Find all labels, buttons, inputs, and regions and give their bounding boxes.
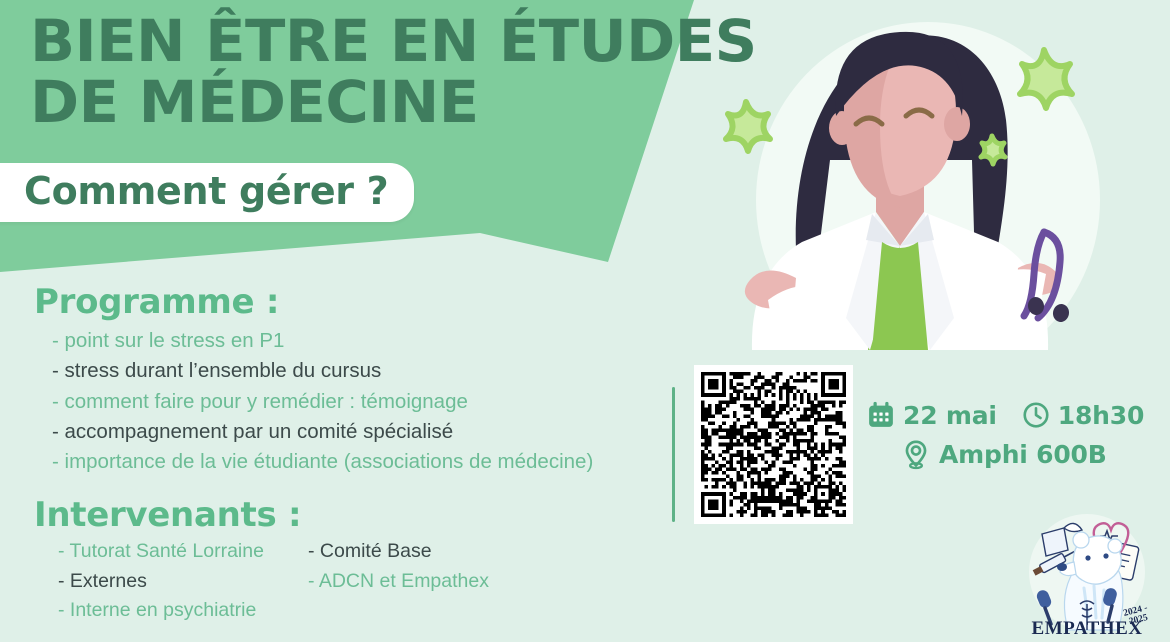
event-date-time-row: 22 mai 18h30	[866, 400, 1156, 430]
intervenant-item: - Tutorat Santé Lorraine	[58, 537, 308, 567]
event-time-text: 18h30	[1058, 401, 1144, 430]
vertical-divider	[672, 387, 675, 522]
programme-item: - point sur le stress en P1	[52, 326, 674, 356]
programme-item: - importance de la vie étudiante (associ…	[52, 447, 674, 477]
title-line-1: BIEN ÊTRE EN ÉTUDES	[30, 14, 724, 69]
logo-name: EMPATHEX	[1032, 618, 1143, 639]
event-date-text: 22 mai	[903, 401, 997, 430]
intervenant-item: - Comité Base	[308, 537, 489, 567]
female-doctor-illustration	[700, 0, 1170, 350]
intervenant-item: - Externes	[58, 567, 308, 597]
event-details: 22 mai 18h30 Amphi 600B	[866, 400, 1156, 470]
intervenants-columns: - Tutorat Santé Lorraine- Externes- Inte…	[34, 537, 654, 626]
intervenants-heading: Intervenants :	[34, 495, 654, 535]
programme-section: Programme : - point sur le stress en P1-…	[34, 282, 674, 478]
subtitle-text: Comment gérer ?	[24, 169, 388, 213]
programme-heading: Programme :	[34, 282, 674, 322]
programme-item: - stress durant l’ensemble du cursus	[52, 356, 674, 386]
title-line-2: DE MÉDECINE	[30, 75, 724, 130]
programme-item: - comment faire pour y remédier : témoig…	[52, 387, 674, 417]
event-location-row: Amphi 600B	[900, 438, 1156, 470]
programme-item: - accompagnement par un comité spécialis…	[52, 417, 674, 447]
polar-bear-logo: EMPATHEX 2024 - 2025	[1012, 512, 1162, 640]
programme-list: - point sur le stress en P1- stress dura…	[34, 326, 674, 478]
intervenant-item: - ADCN et Empathex	[308, 567, 489, 597]
page-title: BIEN ÊTRE EN ÉTUDES DE MÉDECINE	[30, 14, 710, 130]
subtitle-pill: Comment gérer ?	[0, 163, 414, 222]
map-pin-icon	[900, 438, 932, 470]
clock-icon	[1021, 400, 1051, 430]
calendar-icon	[866, 400, 896, 430]
intervenant-item: - Interne en psychiatrie	[58, 596, 308, 626]
intervenants-section: Intervenants : - Tutorat Santé Lorraine-…	[34, 495, 654, 626]
qr-code[interactable]	[694, 365, 853, 524]
event-date-item: 22 mai	[866, 400, 997, 430]
intervenants-column-right: - Comité Base- ADCN et Empathex	[308, 537, 489, 626]
event-location-text: Amphi 600B	[939, 440, 1107, 469]
event-location-item: Amphi 600B	[900, 438, 1107, 470]
intervenants-column-left: - Tutorat Santé Lorraine- Externes- Inte…	[58, 537, 308, 626]
poster-root: BIEN ÊTRE EN ÉTUDES DE MÉDECINE Comment …	[0, 0, 1170, 642]
event-time-item: 18h30	[1021, 400, 1144, 430]
